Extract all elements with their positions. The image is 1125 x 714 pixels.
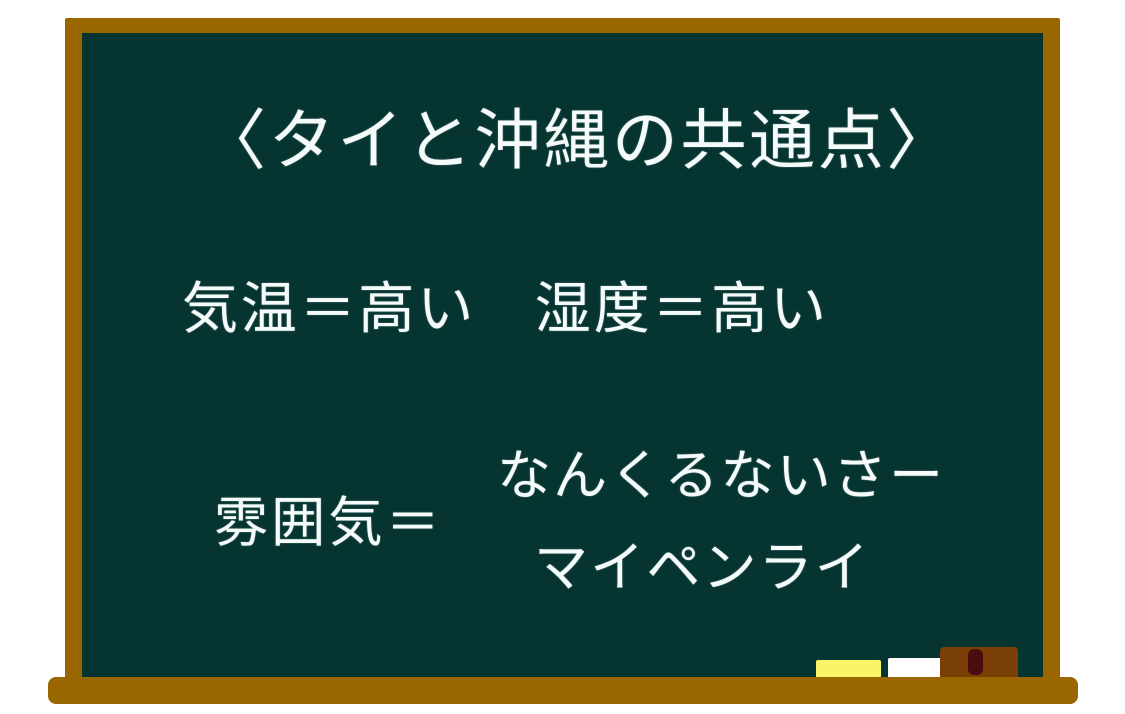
mood-label: 雰囲気＝ bbox=[214, 496, 443, 550]
phrase-okinawa: なんくるないさー bbox=[497, 449, 945, 503]
climate-line: 気温＝高い 湿度＝高い bbox=[182, 282, 829, 338]
board-title: 〈タイと沖縄の共通点〉 bbox=[200, 108, 955, 174]
eraser-handle-icon bbox=[968, 649, 983, 675]
phrase-thai: マイペンライ bbox=[534, 541, 871, 595]
chalk-ledge bbox=[48, 677, 1078, 704]
yellow-chalk-icon bbox=[816, 660, 881, 678]
blackboard-scene: 〈タイと沖縄の共通点〉 気温＝高い 湿度＝高い 雰囲気＝ なんくるないさー マイ… bbox=[0, 0, 1125, 714]
